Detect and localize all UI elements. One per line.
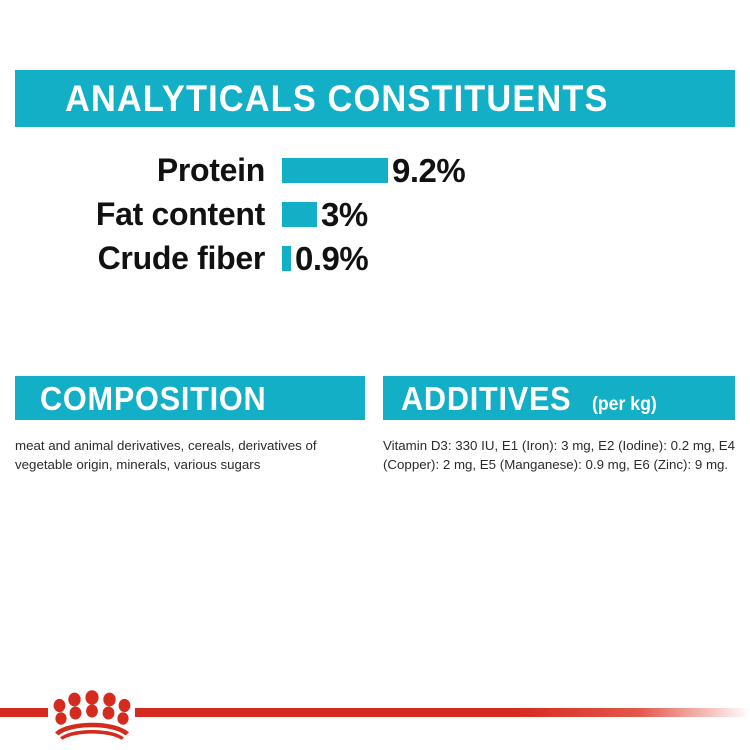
constituent-label: Crude fiber <box>0 242 265 274</box>
constituent-label: Protein <box>0 154 265 186</box>
constituent-label: Fat content <box>0 198 265 230</box>
additives-banner-title: ADDITIVES <box>401 382 571 415</box>
additives-banner: ADDITIVES (per kg) <box>383 376 735 420</box>
footer-rule-left <box>0 708 48 717</box>
composition-text: meat and animal derivatives, cereals, de… <box>15 437 365 475</box>
royal-canin-crown-icon <box>50 690 134 740</box>
additives-text: Vitamin D3: 330 IU, E1 (Iron): 3 mg, E2 … <box>383 437 735 475</box>
constituent-bar-group: 0.9% <box>282 242 368 275</box>
constituent-row-crude-fiber: Crude fiber 0.9% <box>0 236 750 280</box>
constituent-value: 9.2% <box>392 154 465 187</box>
constituent-bar-group: 3% <box>282 198 368 231</box>
analyticals-banner-title: ANALYTICALS CONSTITUENTS <box>65 80 609 117</box>
footer-rule-right <box>135 708 750 717</box>
additives-banner-subtitle: (per kg) <box>592 395 657 414</box>
composition-banner-title: COMPOSITION <box>40 382 266 415</box>
constituent-bar-group: 9.2% <box>282 154 465 187</box>
constituent-value: 3% <box>321 198 368 231</box>
constituent-row-fat-content: Fat content 3% <box>0 192 750 236</box>
footer <box>0 690 750 750</box>
composition-banner: COMPOSITION <box>15 376 365 420</box>
nutrition-panel: ANALYTICALS CONSTITUENTS Protein 9.2% Fa… <box>0 0 750 750</box>
constituent-bar <box>282 158 388 183</box>
additives-banner-row: ADDITIVES (per kg) <box>401 382 662 415</box>
constituent-bar <box>282 202 317 227</box>
constituent-row-protein: Protein 9.2% <box>0 148 750 192</box>
constituent-bar <box>282 246 291 271</box>
constituent-value: 0.9% <box>295 242 368 275</box>
constituents-chart: Protein 9.2% Fat content 3% Crude fiber … <box>0 148 750 280</box>
analyticals-banner: ANALYTICALS CONSTITUENTS <box>15 70 735 127</box>
